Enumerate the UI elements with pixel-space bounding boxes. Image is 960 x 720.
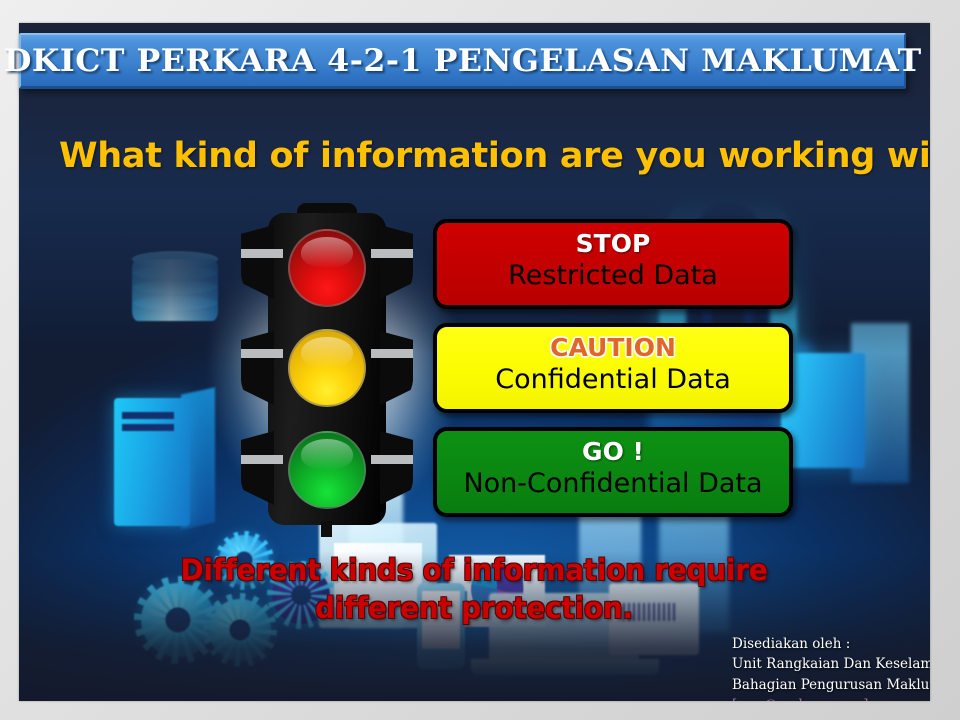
- database-body-icon: [132, 259, 218, 321]
- traffic-light-bar-right-2: [371, 349, 413, 358]
- traffic-light-bar-right-3: [371, 455, 413, 464]
- category-box-stop[interactable]: STOP Restricted Data: [433, 219, 793, 309]
- laptop-keyboard-icon: [471, 659, 659, 675]
- traffic-light-bar-right-1: [371, 249, 413, 258]
- category-label-confidential-data: Confidential Data: [443, 364, 783, 396]
- desktop-tower-icon: [114, 398, 190, 526]
- traffic-light-red-lamp: [288, 229, 366, 307]
- category-label-restricted-data: Restricted Data: [443, 260, 783, 292]
- slide-title-bar: DKICT PERKARA 4-2-1 PENGELASAN MAKLUMAT: [19, 33, 906, 89]
- credits-line-3: Bahagian Pengurusan Maklumat: [732, 675, 930, 695]
- server-box-right-icon: [781, 353, 865, 468]
- category-label-non-confidential-data: Non-Confidential Data: [443, 468, 783, 500]
- credits-block: Disediakan oleh : Unit Rangkaian Dan Kes…: [732, 634, 930, 701]
- page-canvas: What kind of information are you working…: [0, 0, 960, 720]
- category-box-go[interactable]: GO ! Non-Confidential Data: [433, 427, 793, 517]
- slogan-text: Different kinds of information require d…: [95, 551, 853, 628]
- category-heading-caution: CAUTION: [443, 334, 783, 363]
- traffic-light-bar-left-3: [241, 455, 283, 464]
- traffic-light-amber-lamp: [288, 329, 366, 407]
- category-heading-stop: STOP: [443, 230, 783, 259]
- page-title: What kind of information are you working…: [59, 136, 930, 176]
- traffic-light-bar-left-1: [241, 249, 283, 258]
- slide: What kind of information are you working…: [19, 23, 930, 701]
- category-heading-go: GO !: [443, 438, 783, 467]
- traffic-light-green-lamp: [288, 431, 366, 509]
- credits-email: [ sec@moh.gov.my ]: [732, 695, 930, 701]
- slogan-line-1: Different kinds of information require: [95, 551, 853, 589]
- slogan-line-2: different protection.: [95, 589, 853, 627]
- traffic-light-pole: [321, 521, 332, 537]
- server-rack-right-icon: [851, 323, 909, 483]
- category-box-caution[interactable]: CAUTION Confidential Data: [433, 323, 793, 413]
- credits-line-1: Disediakan oleh :: [732, 634, 930, 654]
- slide-title-text: DKICT PERKARA 4-2-1 PENGELASAN MAKLUMAT: [4, 43, 922, 79]
- database-icon: [132, 251, 218, 267]
- server-panel-left-icon: [181, 387, 215, 529]
- traffic-light-graphic: [241, 203, 413, 533]
- credits-line-2: Unit Rangkaian Dan Keselamatan,: [732, 654, 930, 674]
- traffic-light-bar-left-2: [241, 349, 283, 358]
